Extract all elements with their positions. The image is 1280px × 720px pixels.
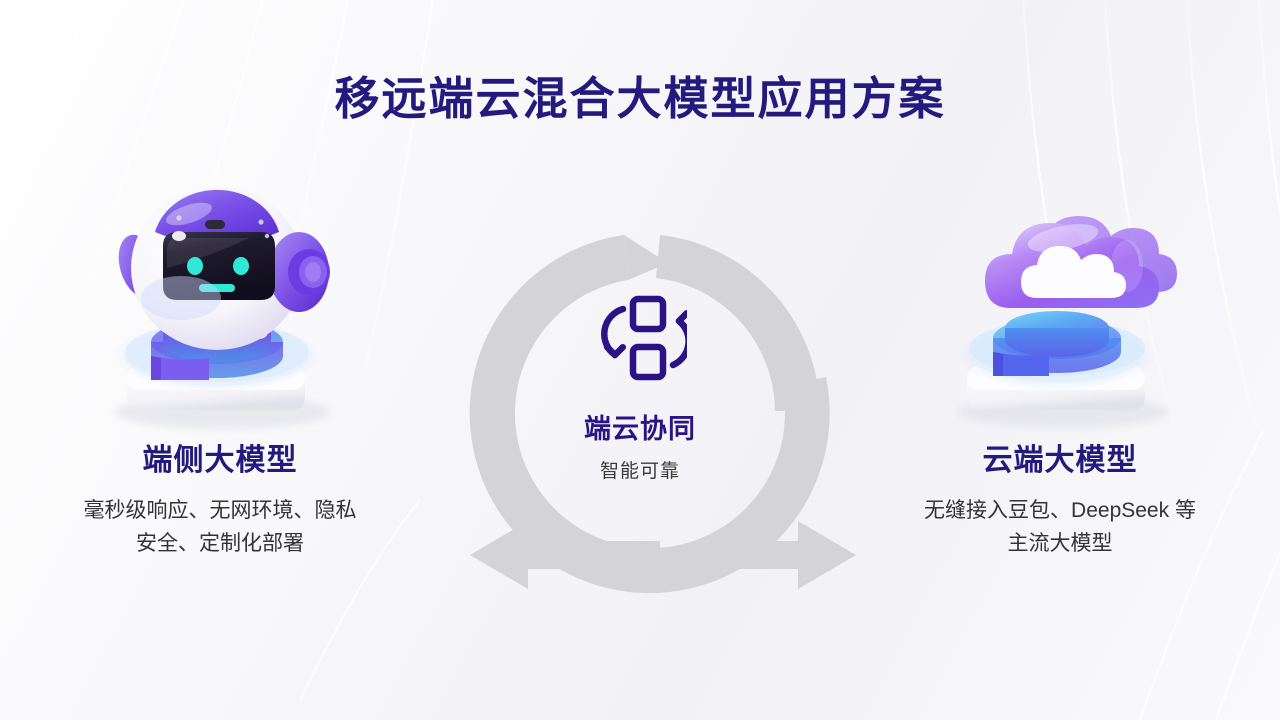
center-cycle: 端云协同 智能可靠	[410, 215, 870, 615]
right-column: 云端大模型 无缝接入豆包、DeepSeek 等主流大模型	[895, 180, 1225, 560]
page-title: 移远端云混合大模型应用方案	[0, 74, 1280, 124]
page-title-text: 移远端云混合大模型应用方案	[334, 74, 945, 124]
right-column-heading: 云端大模型	[895, 443, 1225, 479]
left-column-heading: 端侧大模型	[55, 443, 385, 479]
cloud-illustration	[895, 180, 1225, 435]
left-column-description: 毫秒级响应、无网环境、隐私安全、定制化部署	[55, 495, 385, 560]
robot-eye-right	[233, 257, 249, 275]
slide-canvas: 移远端云混合大模型应用方案	[0, 0, 1280, 720]
robot-svg	[55, 180, 385, 435]
robot-eye-left	[187, 257, 203, 275]
cycle-graphics	[410, 215, 870, 615]
right-column-description: 无缝接入豆包、DeepSeek 等主流大模型	[895, 495, 1225, 560]
robot-device-illustration	[55, 180, 385, 435]
left-column: 端侧大模型 毫秒级响应、无网环境、隐私安全、定制化部署	[55, 180, 385, 560]
cloud-svg	[895, 180, 1225, 435]
